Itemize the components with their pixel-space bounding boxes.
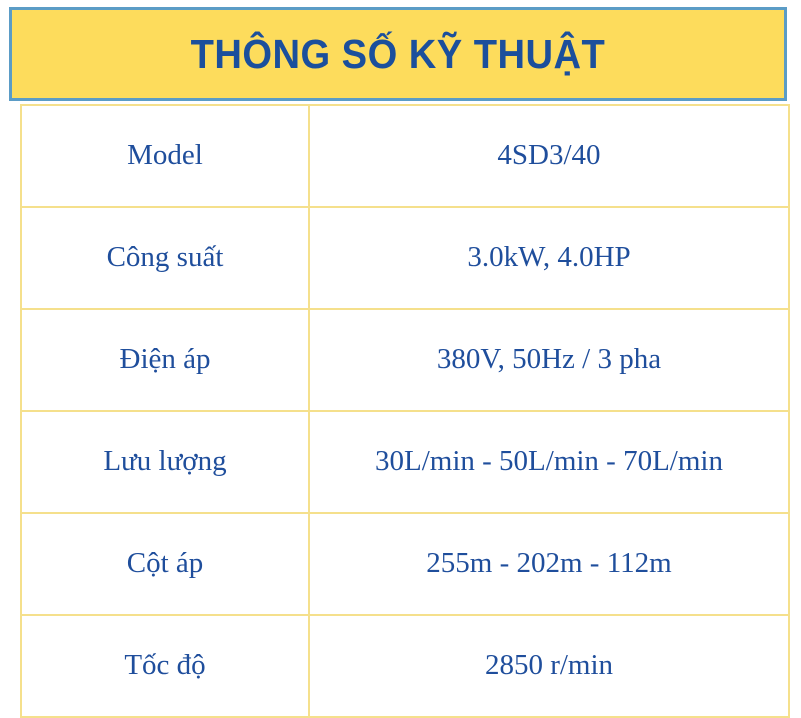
specifications-table-body: Model 4SD3/40 Công suất 3.0kW, 4.0HP Điệ… bbox=[21, 105, 789, 717]
spec-label-voltage: Điện áp bbox=[21, 309, 309, 411]
table-row: Model 4SD3/40 bbox=[21, 105, 789, 207]
spec-label-power: Công suất bbox=[21, 207, 309, 309]
spec-label-flow-rate: Lưu lượng bbox=[21, 411, 309, 513]
spec-value-flow-rate: 30L/min - 50L/min - 70L/min bbox=[309, 411, 789, 513]
spec-label-model: Model bbox=[21, 105, 309, 207]
table-row: Cột áp 255m - 202m - 112m bbox=[21, 513, 789, 615]
table-row: Tốc độ 2850 r/min bbox=[21, 615, 789, 717]
spec-header-banner: THÔNG SỐ KỸ THUẬT bbox=[9, 7, 787, 101]
spec-value-head: 255m - 202m - 112m bbox=[309, 513, 789, 615]
spec-value-voltage: 380V, 50Hz / 3 pha bbox=[309, 309, 789, 411]
spec-sheet: THÔNG SỐ KỸ THUẬT Model 4SD3/40 Công suấ… bbox=[0, 0, 801, 713]
spec-value-model: 4SD3/40 bbox=[309, 105, 789, 207]
table-row: Lưu lượng 30L/min - 50L/min - 70L/min bbox=[21, 411, 789, 513]
page-title: THÔNG SỐ KỸ THUẬT bbox=[191, 34, 606, 75]
table-row: Công suất 3.0kW, 4.0HP bbox=[21, 207, 789, 309]
spec-label-speed: Tốc độ bbox=[21, 615, 309, 717]
table-row: Điện áp 380V, 50Hz / 3 pha bbox=[21, 309, 789, 411]
spec-label-head: Cột áp bbox=[21, 513, 309, 615]
spec-value-power: 3.0kW, 4.0HP bbox=[309, 207, 789, 309]
specifications-table: Model 4SD3/40 Công suất 3.0kW, 4.0HP Điệ… bbox=[20, 104, 790, 718]
spec-value-speed: 2850 r/min bbox=[309, 615, 789, 717]
